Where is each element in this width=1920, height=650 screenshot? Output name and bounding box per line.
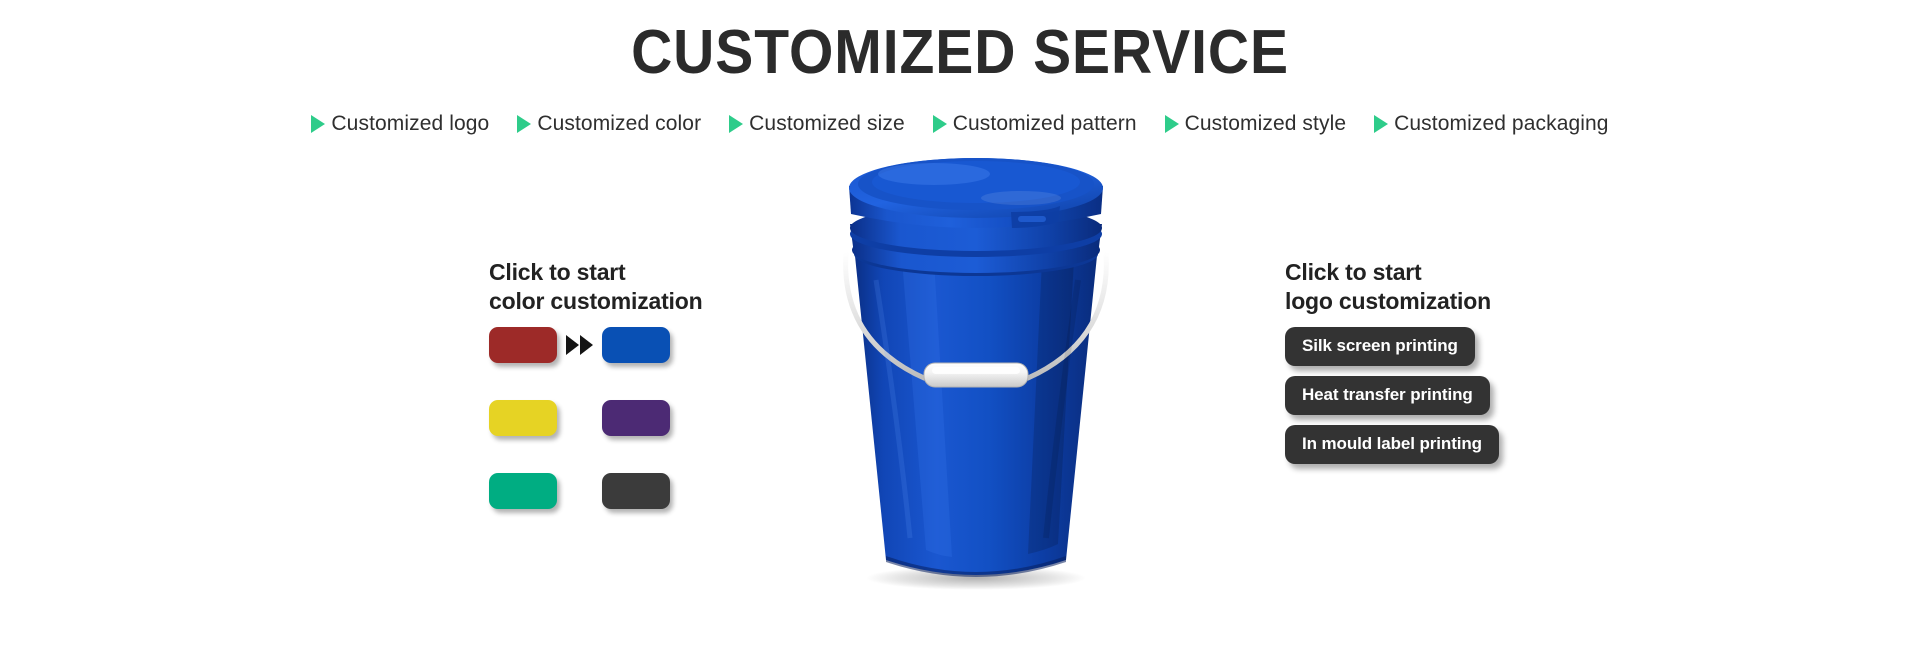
feature-label: Customized pattern (953, 112, 1137, 136)
color-swatch-purple[interactable] (602, 400, 670, 436)
feature-label: Customized logo (331, 112, 489, 136)
feature-label: Customized packaging (1394, 112, 1608, 136)
grid-spacer (557, 473, 602, 509)
feature-label: Customized style (1185, 112, 1347, 136)
feature-item-customized-color[interactable]: Customized color (517, 112, 701, 136)
feature-item-customized-style[interactable]: Customized style (1165, 112, 1347, 136)
heat-transfer-printing-button[interactable]: Heat transfer printing (1285, 376, 1490, 415)
color-swatch-grid (489, 327, 670, 509)
triangle-right-icon (311, 115, 325, 133)
feature-label: Customized size (749, 112, 905, 136)
feature-item-customized-size[interactable]: Customized size (729, 112, 905, 136)
triangle-right-icon (729, 115, 743, 133)
logo-print-method-list: Silk screen printing Heat transfer print… (1285, 327, 1499, 464)
color-swatch-dark-gray[interactable] (602, 473, 670, 509)
color-swatch-teal-green[interactable] (489, 473, 557, 509)
in-mould-label-printing-button[interactable]: In mould label printing (1285, 425, 1499, 464)
logo-customization-heading: Click to start logo customization (1285, 258, 1491, 317)
triangle-right-icon (517, 115, 531, 133)
triangle-right-icon (1165, 115, 1179, 133)
grid-spacer (557, 400, 602, 436)
color-customization-heading: Click to start color customization (489, 258, 702, 317)
feature-item-customized-packaging[interactable]: Customized packaging (1374, 112, 1608, 136)
double-chevron-right-icon (557, 335, 602, 355)
color-swatch-dark-red[interactable] (489, 327, 557, 363)
silk-screen-printing-button[interactable]: Silk screen printing (1285, 327, 1475, 366)
triangle-right-icon (933, 115, 947, 133)
feature-label: Customized color (537, 112, 701, 136)
feature-item-customized-logo[interactable]: Customized logo (311, 112, 489, 136)
triangle-right-icon (1374, 115, 1388, 133)
feature-item-customized-pattern[interactable]: Customized pattern (933, 112, 1137, 136)
features-list: Customized logo Customized color Customi… (0, 112, 1920, 136)
color-swatch-yellow[interactable] (489, 400, 557, 436)
page-title: CUSTOMIZED SERVICE (77, 20, 1843, 85)
color-swatch-blue[interactable] (602, 327, 670, 363)
product-image-blue-bucket (806, 150, 1146, 590)
